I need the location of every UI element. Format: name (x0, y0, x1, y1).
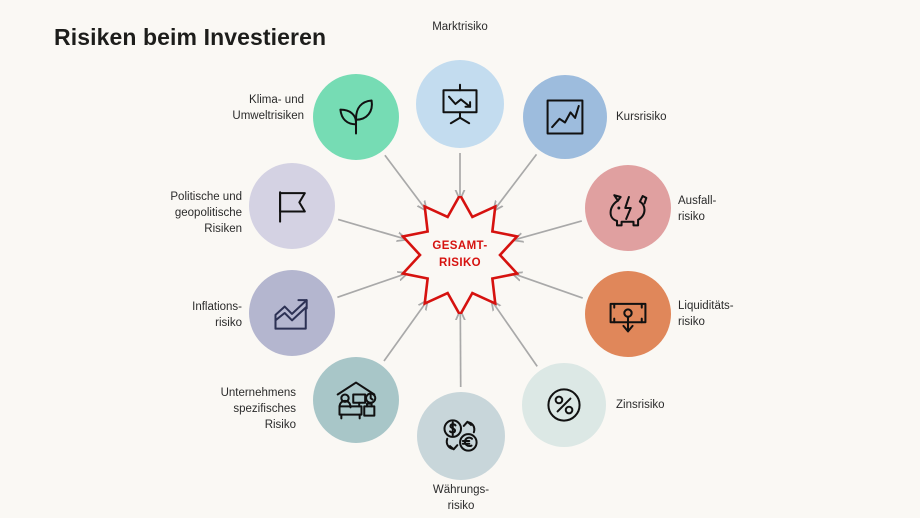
risk-label-liquiditaetsrisiko: Liquiditäts- risiko (678, 299, 734, 331)
risk-label-ausfallrisiko: Ausfall- risiko (678, 194, 716, 226)
risk-node-waehrungsrisiko[interactable] (417, 392, 505, 480)
page-title: Risiken beim Investieren (54, 24, 326, 51)
infographic-canvas: Risiken beim Investieren Marktrisiko Kur… (0, 0, 920, 518)
presentation-board-declining-chart-icon (438, 82, 482, 126)
risk-node-ausfallrisiko[interactable] (585, 165, 671, 251)
risk-label-politische-risiken: Politische und geopolitische Risiken (170, 190, 242, 238)
risk-label-unternehmensrisiko: Unternehmens spezifisches Risiko (221, 386, 296, 434)
risk-label-waehrungsrisiko: Währungs- risiko (391, 483, 531, 515)
currency-exchange-dollar-euro-icon (439, 414, 483, 458)
flag-icon (270, 184, 314, 228)
risk-label-klimarisiken: Klima- und Umweltrisiken (232, 93, 304, 125)
percent-circle-icon (542, 383, 586, 427)
framed-rising-line-chart-icon (543, 95, 587, 139)
risk-node-kursrisiko[interactable] (523, 75, 607, 159)
gesamtrisiko-star: GESAMT- RISIKO (396, 196, 524, 314)
banknote-down-arrow-icon (606, 292, 650, 336)
risk-label-inflationsrisiko: Inflations- risiko (192, 300, 242, 332)
risk-node-unternehmensrisiko[interactable] (313, 357, 399, 443)
broken-piggy-bank-icon (606, 186, 650, 230)
risk-node-marktrisiko[interactable] (416, 60, 504, 148)
risk-label-zinsrisiko: Zinsrisiko (616, 398, 665, 414)
star-label-line1: GESAMT- (432, 238, 487, 255)
risk-label-kursrisiko: Kursrisiko (616, 110, 666, 126)
risk-node-inflationsrisiko[interactable] (249, 270, 335, 356)
risk-node-klimarisiken[interactable] (313, 74, 399, 160)
risk-node-politische-risiken[interactable] (249, 163, 335, 249)
leaf-sprout-icon (334, 95, 378, 139)
rising-arrow-chart-icon (270, 291, 314, 335)
office-workplace-icon (334, 378, 378, 422)
risk-node-liquiditaetsrisiko[interactable] (585, 271, 671, 357)
risk-label-marktrisiko: Marktrisiko (390, 20, 530, 36)
risk-node-zinsrisiko[interactable] (522, 363, 606, 447)
star-label-line2: RISIKO (439, 255, 481, 272)
star-label: GESAMT- RISIKO (396, 196, 524, 314)
